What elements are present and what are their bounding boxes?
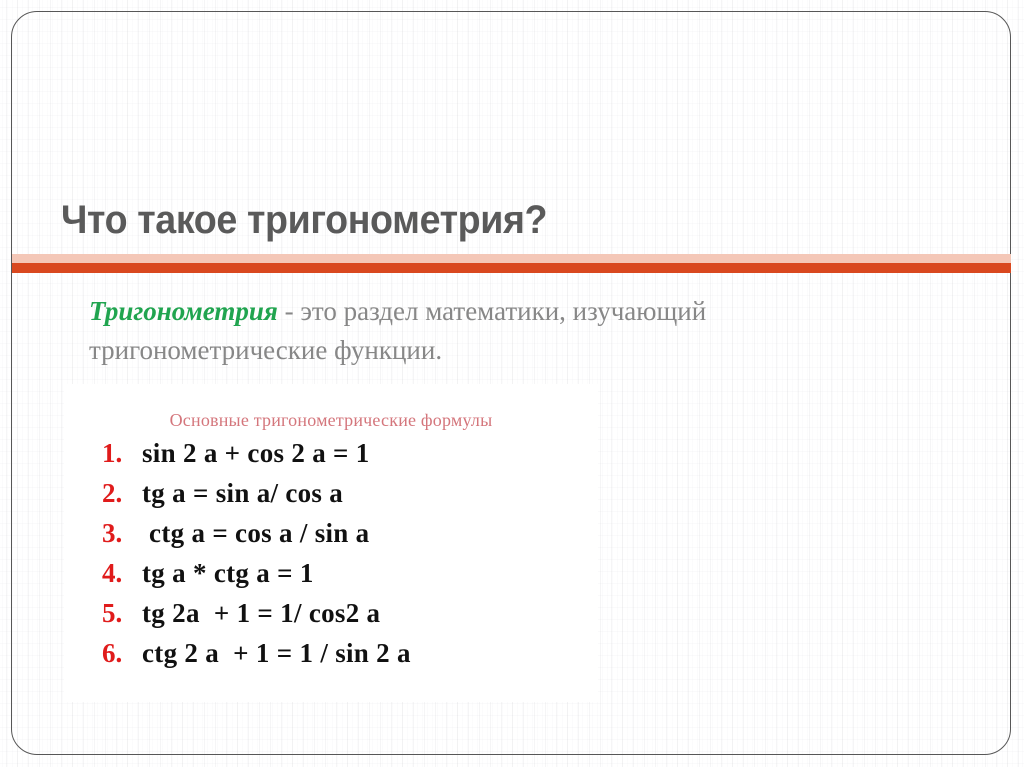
formula-number: 3. bbox=[102, 518, 142, 549]
formula-number: 2. bbox=[102, 478, 142, 509]
formula-number: 5. bbox=[102, 598, 142, 629]
page-title: Что такое тригонометрия? bbox=[61, 196, 907, 244]
formulas-list: 1. sin 2 a + cos 2 a = 1 2. tg a = sin a… bbox=[102, 438, 602, 678]
formula-expression: sin 2 a + cos 2 a = 1 bbox=[142, 438, 370, 469]
formulas-heading: Основные тригонометрические формулы bbox=[64, 410, 598, 431]
formula-row: 3. ctg a = cos a / sin a bbox=[102, 518, 602, 558]
definition-term: Тригонометрия bbox=[89, 296, 278, 326]
formula-expression: ctg 2 a + 1 = 1 / sin 2 a bbox=[142, 638, 411, 669]
body-paragraph: Тригонометрия - это раздел математики, и… bbox=[89, 292, 809, 370]
formula-number: 4. bbox=[102, 558, 142, 589]
formula-row: 2. tg a = sin a/ cos a bbox=[102, 478, 602, 518]
formulas-image: Основные тригонометрические формулы 1. s… bbox=[64, 384, 598, 702]
formula-expression: tg 2a + 1 = 1/ cos2 a bbox=[142, 598, 380, 629]
slide: Что такое тригонометрия? Тригонометрия -… bbox=[0, 0, 1024, 767]
divider-band-light bbox=[12, 254, 1011, 263]
formula-number: 1. bbox=[102, 438, 142, 469]
formula-row: 1. sin 2 a + cos 2 a = 1 bbox=[102, 438, 602, 478]
divider-band-accent bbox=[12, 263, 1011, 273]
formula-number: 6. bbox=[102, 638, 142, 669]
formula-expression: tg a = sin a/ cos a bbox=[142, 478, 343, 509]
formula-row: 4. tg a * ctg a = 1 bbox=[102, 558, 602, 598]
formula-expression: tg a * ctg a = 1 bbox=[142, 558, 314, 589]
formula-row: 5. tg 2a + 1 = 1/ cos2 a bbox=[102, 598, 602, 638]
formula-row: 6. ctg 2 a + 1 = 1 / sin 2 a bbox=[102, 638, 602, 678]
formula-expression: ctg a = cos a / sin a bbox=[142, 518, 369, 549]
